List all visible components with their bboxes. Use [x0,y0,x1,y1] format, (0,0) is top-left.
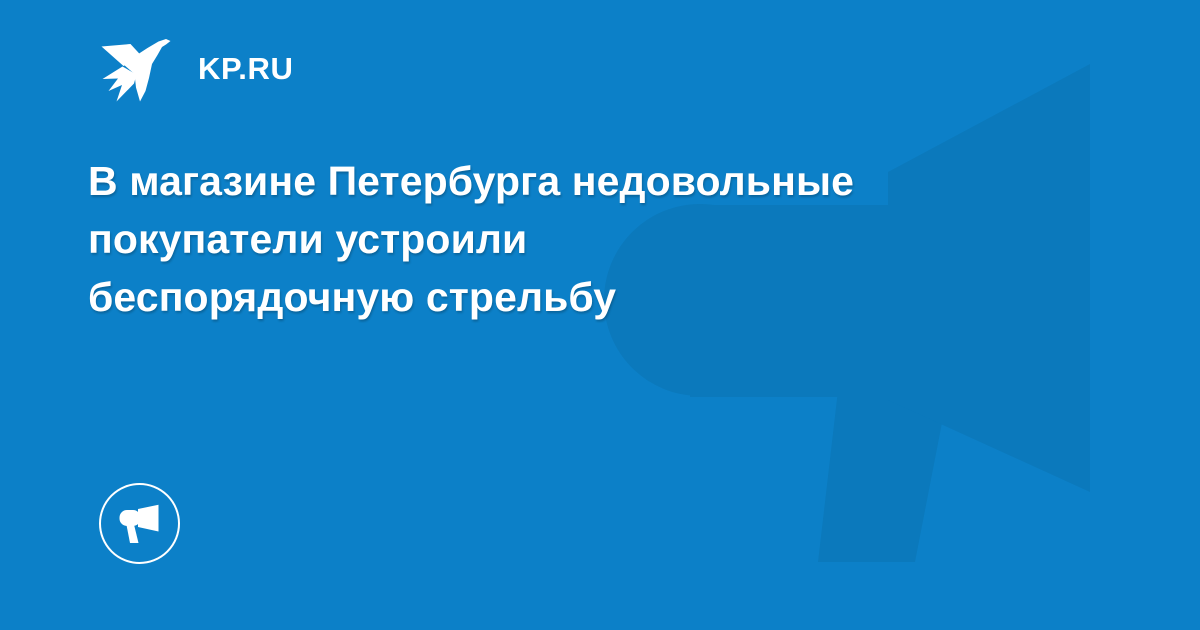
megaphone-icon [118,504,161,544]
swallow-bird-icon [100,33,172,103]
page-title: В магазине Петербурга недовольные покупа… [88,152,858,327]
brand-logo-row[interactable]: KP.RU [100,32,293,104]
brand-name: KP.RU [198,53,293,84]
social-share-card: KP.RU В магазине Петербурга недовольные … [0,0,1200,630]
megaphone-badge[interactable] [99,483,180,564]
